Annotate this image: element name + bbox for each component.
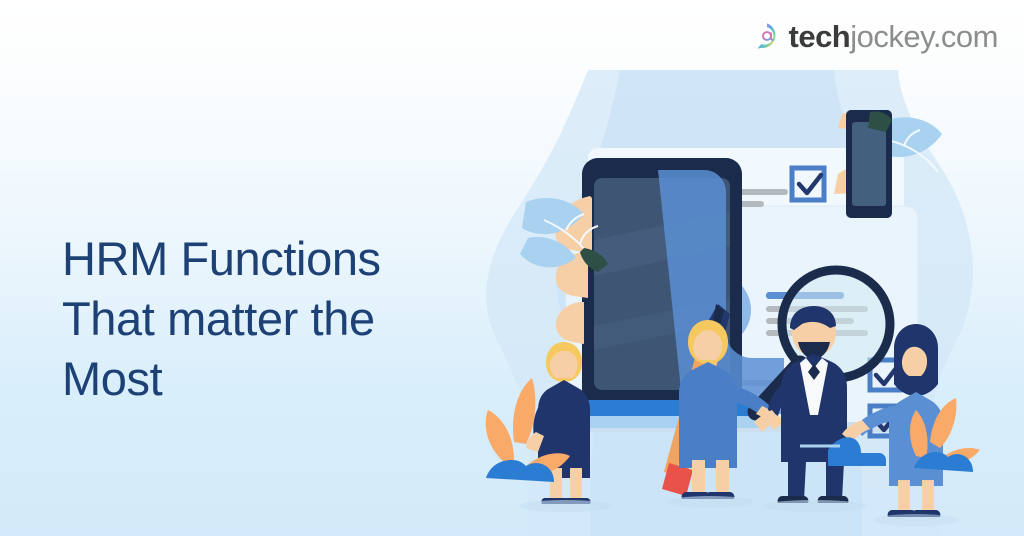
page-title-line-1: HRM Functions: [62, 229, 492, 289]
page-title-line-3: Most: [62, 349, 492, 409]
techjockey-logo[interactable]: techjockey.com: [752, 14, 999, 58]
hero-banner: techjockey.com HRM Functions That matter…: [0, 0, 1024, 536]
logo-wordmark: techjockey.com: [789, 21, 999, 52]
hero-illustration: [470, 70, 1024, 536]
logo-word-bold: tech: [789, 19, 851, 54]
logo-word-light: jockey.com: [850, 19, 998, 54]
page-title-line-2: That matter the: [62, 289, 492, 349]
page-title: HRM Functions That matter the Most: [62, 229, 492, 408]
at-circle-logo-icon: [752, 21, 782, 51]
